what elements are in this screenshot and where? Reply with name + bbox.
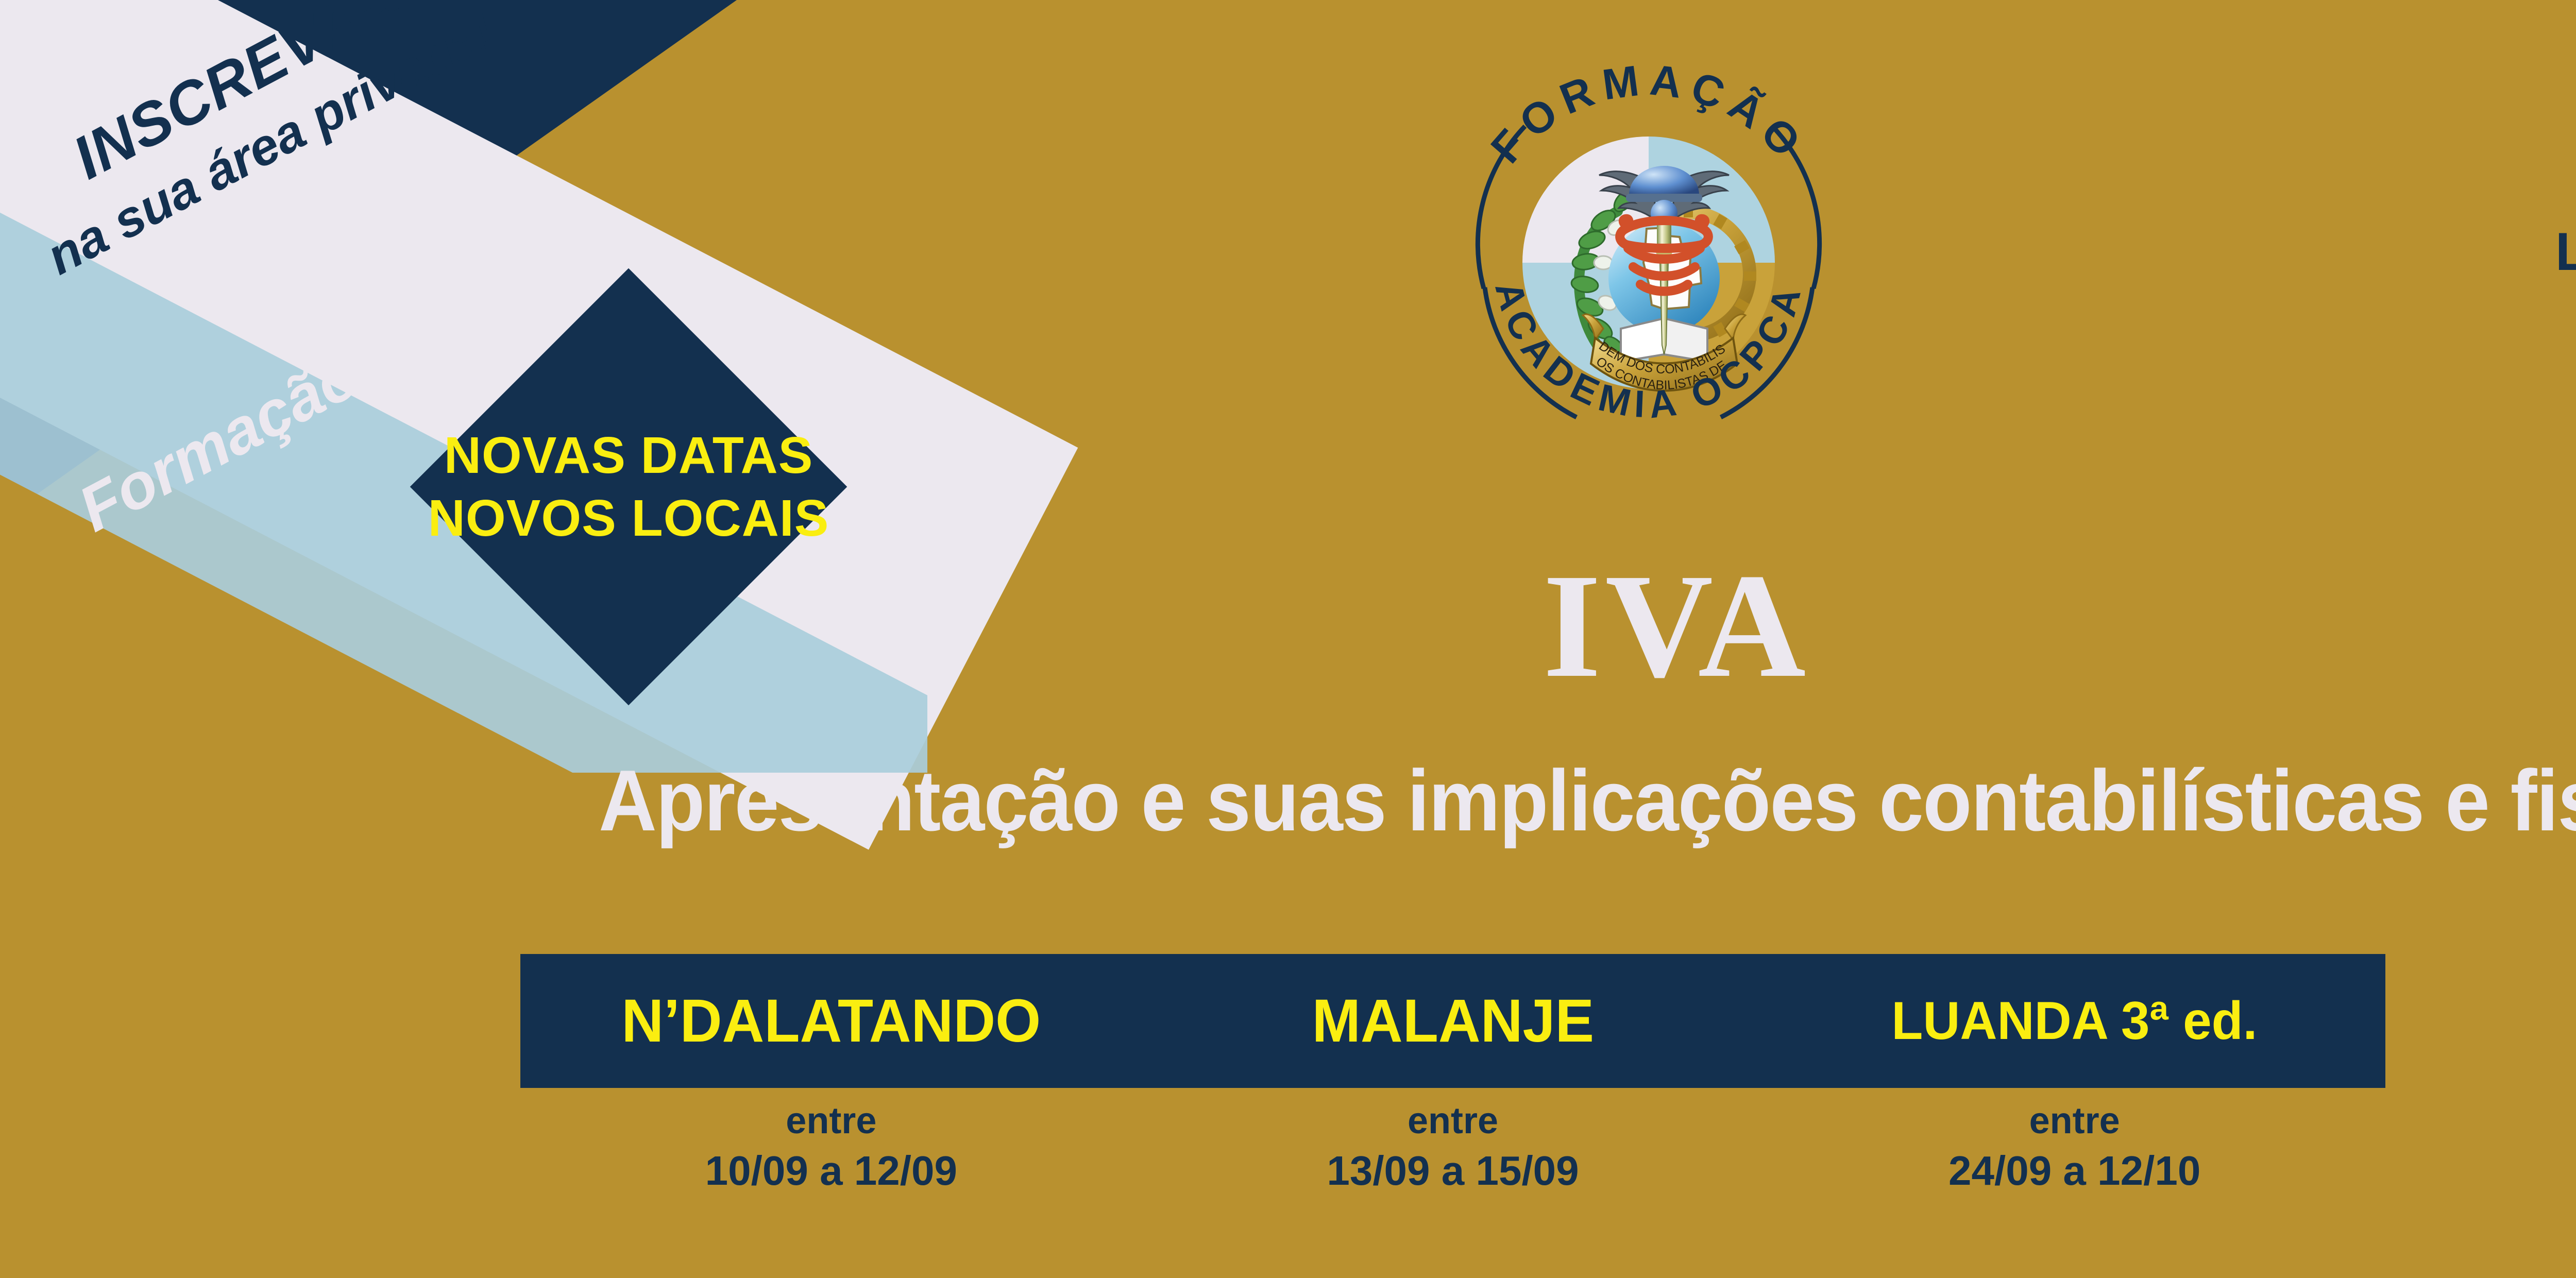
session-range-1: 10/09 a 12/09 [520,1145,1142,1197]
promo-banner: INSCREVA-SE JÁ na sua área privada! Form… [0,0,2576,1278]
session-range-3: 24/09 a 12/10 [1764,1145,2385,1197]
sessions-dates-row: entre 10/09 a 12/09 entre 13/09 a 15/09 … [520,1097,2385,1198]
session-city-1: N’DALATANDO [533,954,1129,1088]
session-city-2: MALANJE [1155,954,1751,1088]
session-entre-label-1: entre [520,1097,1142,1145]
session-dates-2: entre 13/09 a 15/09 [1142,1097,1764,1198]
map-highlight-luanda: LUANDA [2555,221,2576,283]
diamond-line-novos-locais: NOVOS LOCAIS [428,487,829,550]
session-dates-1: entre 10/09 a 12/09 [520,1097,1142,1198]
ocpca-academy-logo: ORDEM DOS CONTABILISTAS E PERITOS CONTAB… [1422,21,1875,474]
session-entre-label-2: entre [1142,1097,1764,1145]
session-city-3: LUANDA 3ª ed. [1776,954,2372,1088]
page-subtitle: Apresentação e suas implicações contabil… [117,757,2576,844]
logo-svg: ORDEM DOS CONTABILISTAS E PERITOS CONTAB… [1422,21,1875,474]
page-title: IVA [0,551,2576,701]
diamond-line-novas-datas: NOVAS DATAS [444,424,814,487]
session-entre-label-3: entre [1764,1097,2385,1145]
sessions-header-bar: N’DALATANDO MALANJE LUANDA 3ª ed. [520,954,2385,1088]
session-range-2: 13/09 a 15/09 [1142,1145,1764,1197]
session-dates-3: entre 24/09 a 12/10 [1764,1097,2385,1198]
